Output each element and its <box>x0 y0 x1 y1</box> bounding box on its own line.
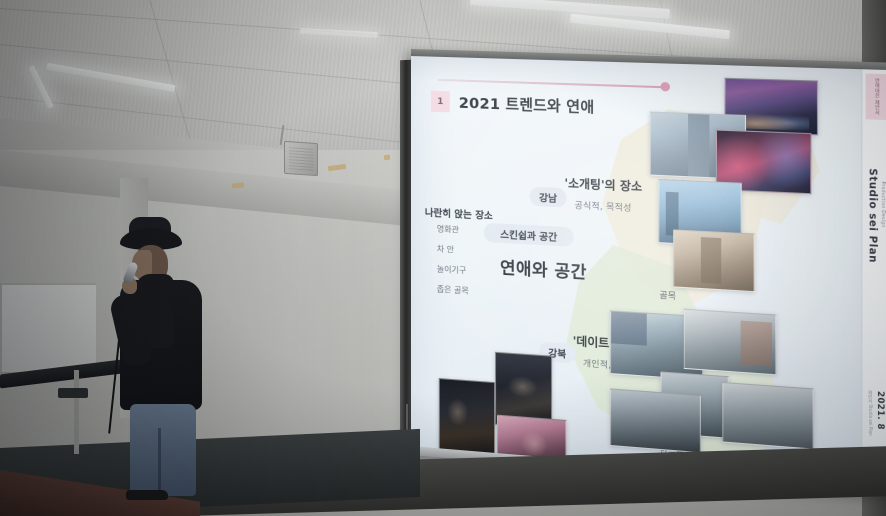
photo-brick-alley-walk <box>610 388 701 453</box>
brand-name: Studio sei Plan <box>866 168 878 263</box>
projection-screen: 1 2021 트렌드와 연애 나란히 앉는 장소 영화관 차 안 놀이기구 좁은… <box>411 56 886 496</box>
pill-gangnam: 강남 <box>530 186 567 207</box>
presenter <box>96 228 236 494</box>
gangnam-main: '소개팅'의 장소 <box>564 175 642 195</box>
photo-alley-street-cafe <box>722 382 813 450</box>
title-accent-line <box>438 79 666 88</box>
slide-sidebar: 연애대전 제안서 Studio sei Plan Production Desi… <box>861 69 886 487</box>
photo-interior-cafe-space <box>673 229 754 292</box>
left-group-list: 영화관 차 안 놀이기구 좁은 골목 <box>437 223 469 296</box>
wall-speaker-icon <box>284 141 318 176</box>
title-accent-dot <box>661 82 671 92</box>
sidebar-meta-small: 제안서 Studio sei Plan <box>867 390 874 436</box>
gangnam-group: '소개팅'의 장소 공식적, 목적성 <box>564 175 642 215</box>
shoe <box>126 490 168 500</box>
pill-skinship: 스킨쉽과 공간 <box>484 223 574 247</box>
jeans <box>130 404 196 496</box>
whiteboard <box>0 283 96 375</box>
lectern-shelf <box>58 388 88 398</box>
sidebar-meta: 제안서 Studio sei Plan 2021. 8 <box>867 390 886 437</box>
gangnam-sub: 공식적, 목적성 <box>575 199 632 214</box>
wall-tape-3 <box>384 155 390 161</box>
list-item: 영화관 <box>437 223 469 236</box>
jeans-seam <box>158 428 161 494</box>
sidebar-top-note: 연애대전 제안서 <box>865 74 886 120</box>
sidebar-date: 2021. 8 <box>876 390 886 430</box>
slide-center-title: 연애와 공간 <box>500 254 587 283</box>
left-group-heading: 나란히 앉는 장소 <box>425 205 493 223</box>
slide-title-row: 1 2021 트렌드와 연애 <box>431 91 595 118</box>
slide-title: 2021 트렌드와 연애 <box>459 92 595 118</box>
list-item: 골목 <box>659 289 684 303</box>
sidebar-brand: Studio sei Plan Production Design <box>866 168 886 264</box>
lectern-stem <box>74 370 79 454</box>
slide-number-badge: 1 <box>431 91 450 113</box>
list-item: 좁은 골목 <box>437 284 469 297</box>
lecture-room-scene: 1 2021 트렌드와 연애 나란히 앉는 장소 영화관 차 안 놀이기구 좁은… <box>0 0 886 516</box>
list-item: 놀이기구 <box>437 263 469 276</box>
slide-surface: 1 2021 트렌드와 연애 나란히 앉는 장소 영화관 차 안 놀이기구 좁은… <box>411 56 886 488</box>
brand-subtitle: Production Design <box>881 181 886 227</box>
list-item: 차 안 <box>437 243 469 256</box>
photo-alley-street-shops <box>684 309 777 376</box>
